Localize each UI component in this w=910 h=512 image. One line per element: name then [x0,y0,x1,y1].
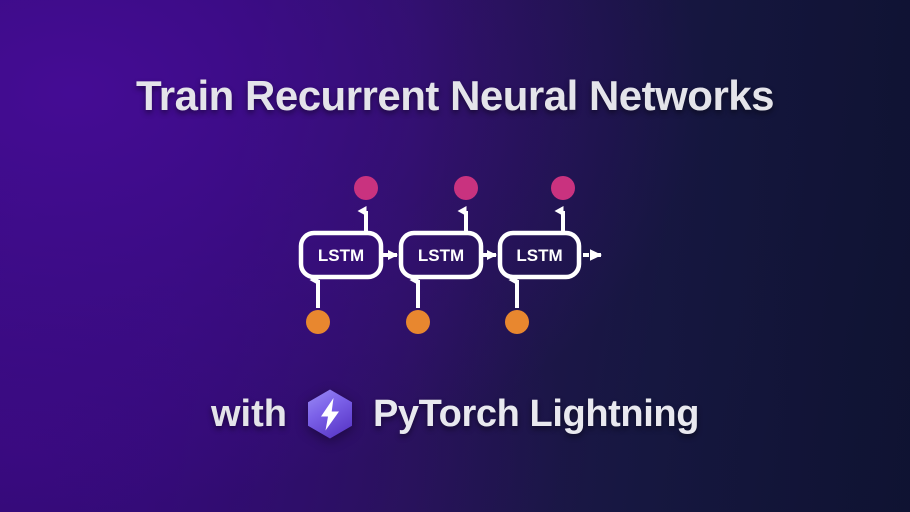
page-title: Train Recurrent Neural Networks [0,72,910,120]
lstm-cell-label: LSTM [418,246,464,265]
lstm-cell-3: LSTM [500,233,579,277]
output-node-1 [354,176,378,200]
input-node-3 [505,310,529,334]
with-label: with [211,395,287,433]
lstm-cell-label: LSTM [516,246,562,265]
lstm-cell-1: LSTM [301,233,381,277]
input-node-1 [306,310,330,334]
brand-name-label: PyTorch Lightning [373,395,699,433]
slide-canvas: Train Recurrent Neural Networks [0,0,910,512]
lstm-cell-2: LSTM [401,233,481,277]
output-node-3 [551,176,575,200]
output-node-2 [454,176,478,200]
input-node-2 [406,310,430,334]
brand-footer: with PyTorch Lightning [0,385,910,443]
lstm-cell-label: LSTM [318,246,364,265]
pytorch-lightning-logo-icon [303,387,357,441]
rnn-lstm-unrolled-diagram: LSTM LSTM LSTM [290,160,630,345]
